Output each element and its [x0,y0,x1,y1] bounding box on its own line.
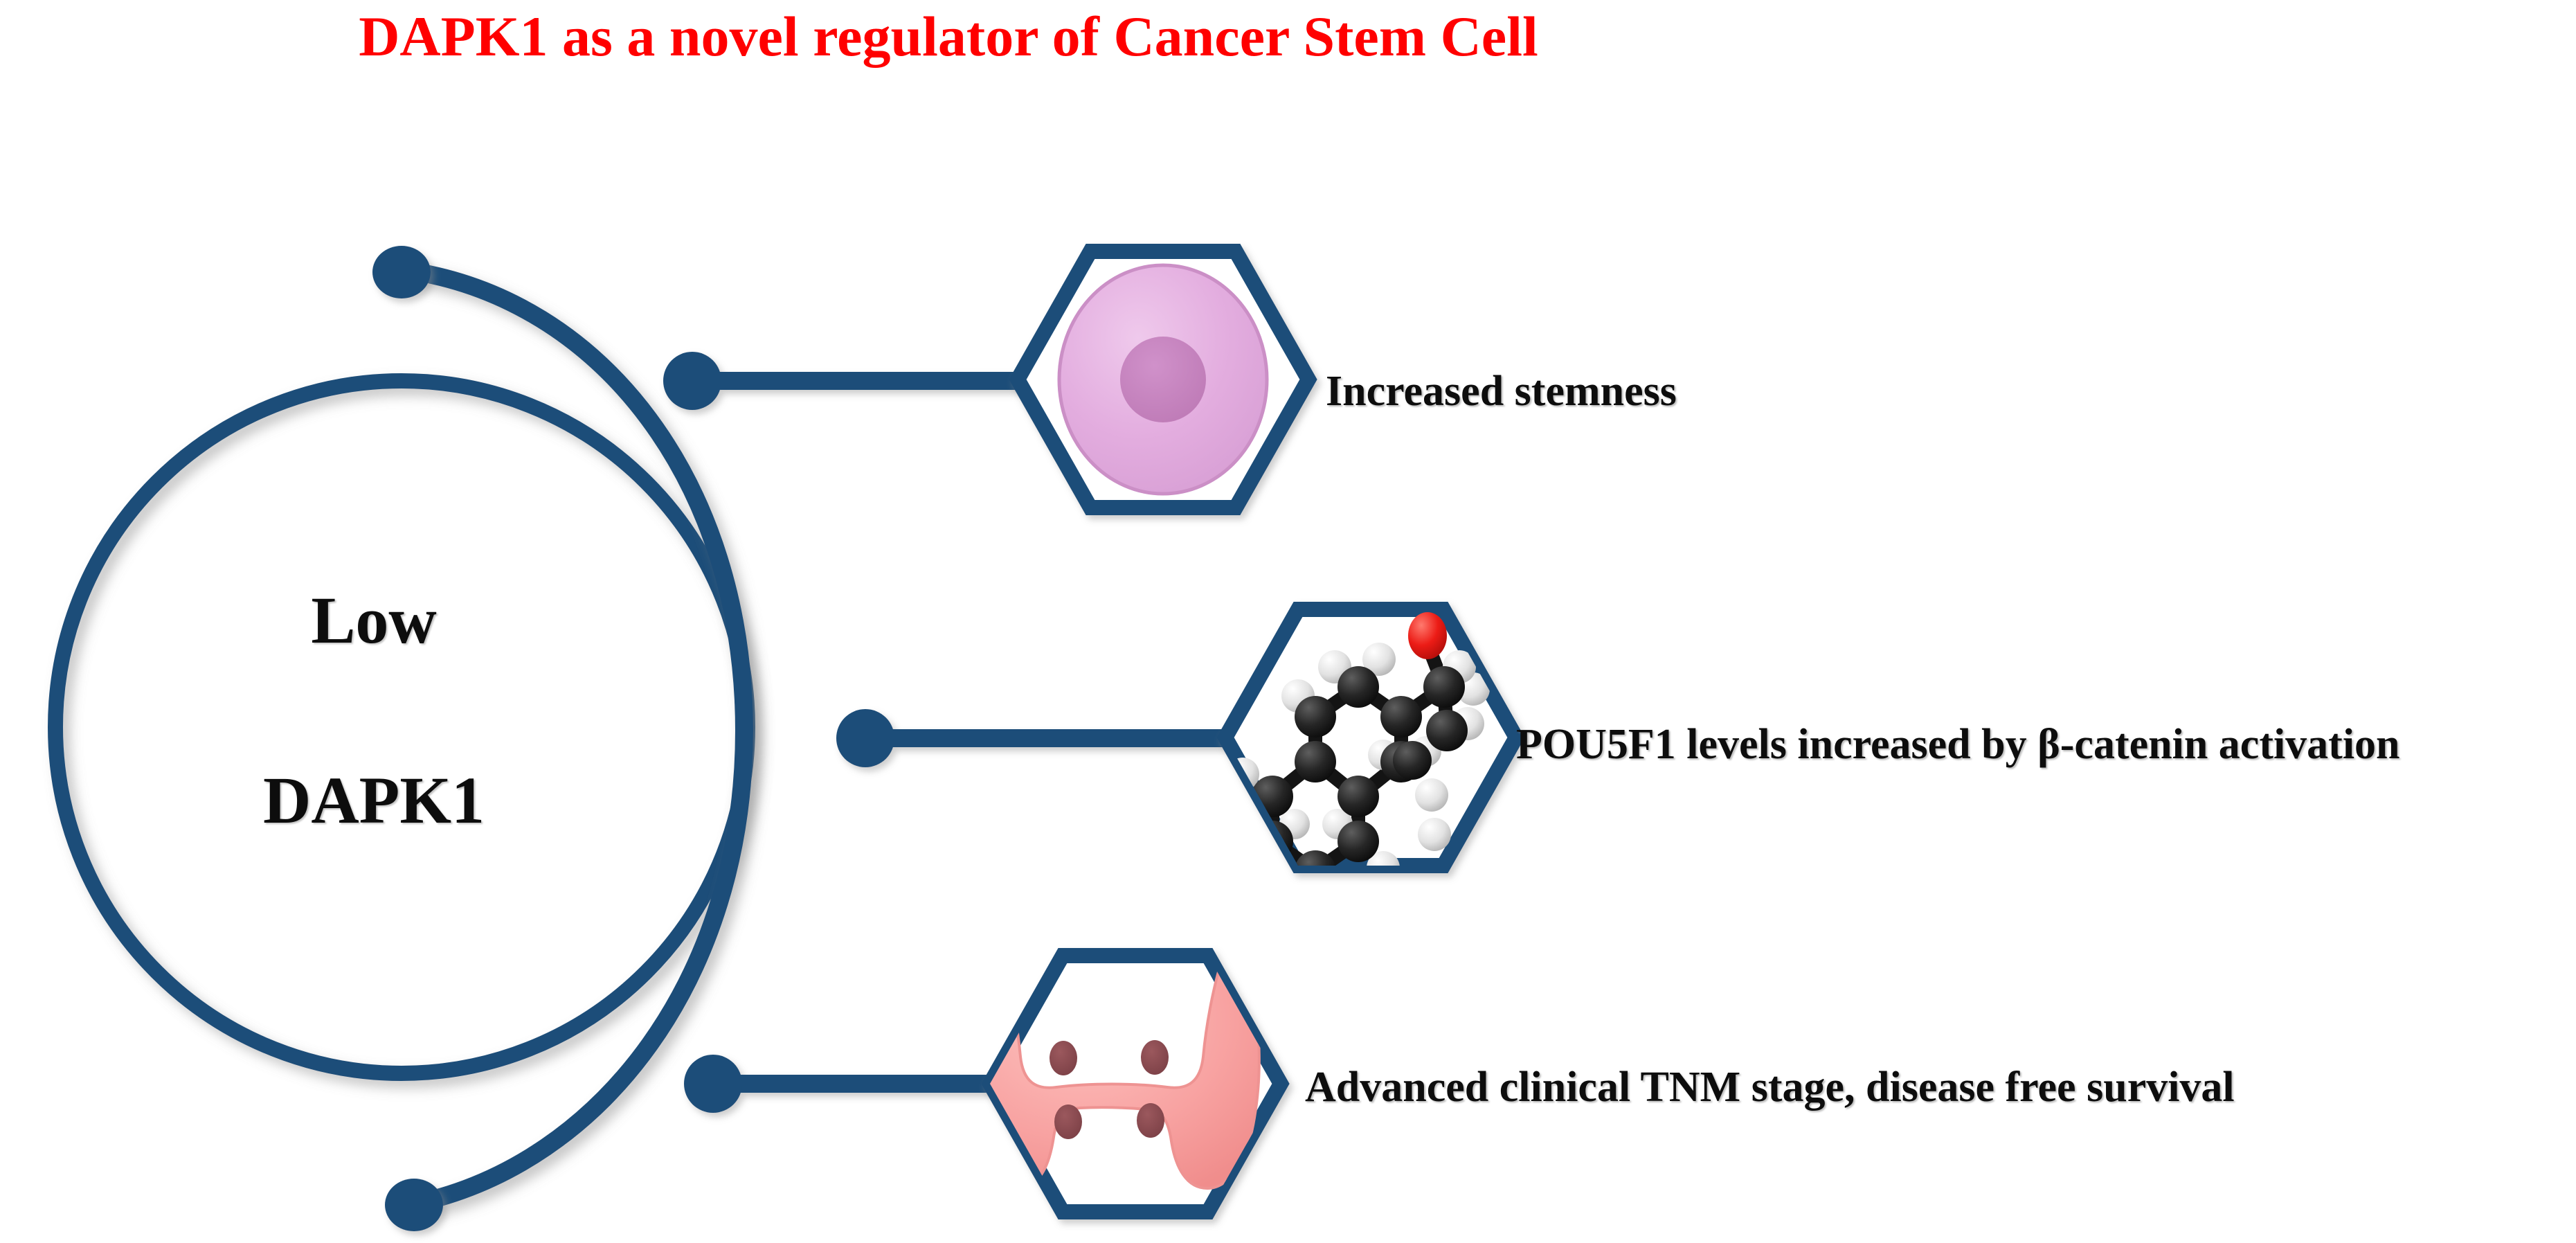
branch-label-tnm: Advanced clinical TNM stage, disease fre… [1305,1063,2235,1112]
hub-label-line2: DAPK1 [83,762,665,839]
hub-label-line1: Low [83,582,665,659]
oxygen-atom [1408,612,1447,659]
branch-label-stemness: Increased stemness [1326,367,1677,416]
stem-cell-icon [1059,265,1267,494]
arc-endpoint-bottom-dot [385,1179,443,1231]
diagram-canvas: DAPK1 as a novel regulator of Cancer Ste… [0,0,2576,1243]
branch-label-pou5f1: POU5F1 levels increased by β-catenin act… [1516,720,2400,769]
hub-circle [55,381,748,1073]
arc-endpoint-top-dot [372,246,431,298]
